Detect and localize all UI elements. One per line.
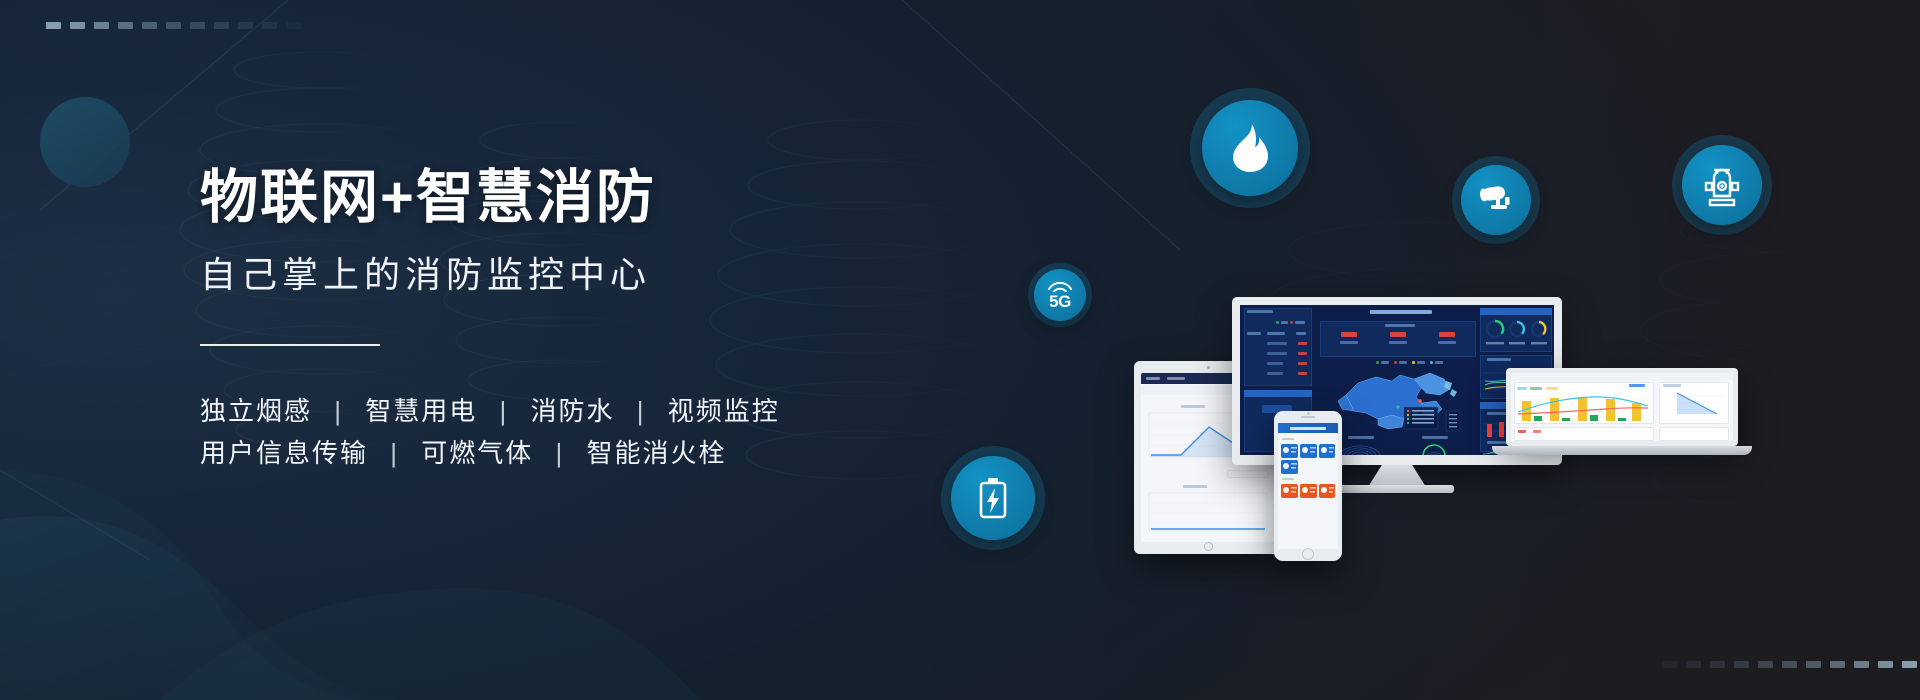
fiveg-badge[interactable]: 5G xyxy=(1028,263,1092,327)
page-subtitle: 自己掌上的消防监控中心 xyxy=(200,253,960,296)
battery-badge[interactable] xyxy=(941,446,1045,550)
cctv-icon xyxy=(1476,183,1516,217)
feature-item: 智慧用电 xyxy=(365,396,477,426)
feature-separator: | xyxy=(624,396,659,426)
feature-item: 智能消火栓 xyxy=(587,438,727,468)
monitor-stand xyxy=(1368,465,1426,487)
hydrant-icon xyxy=(1702,162,1742,208)
feature-separator: | xyxy=(377,438,412,468)
feature-separator: | xyxy=(543,438,578,468)
laptop-device xyxy=(1492,368,1752,460)
decor-circle xyxy=(40,97,130,187)
flame-badge[interactable] xyxy=(1190,88,1310,208)
hero-copy: 物联网+智慧消防 自己掌上的消防监控中心 独立烟感 | 智慧用电 | 消防水 |… xyxy=(200,166,960,474)
feature-item: 独立烟感 xyxy=(200,396,312,426)
signal-waves-icon xyxy=(1047,281,1073,292)
feature-item: 消防水 xyxy=(531,396,615,426)
dash-markers-top xyxy=(46,22,301,29)
feature-line-2: 用户信息传输 | 可燃气体 | 智能消火栓 xyxy=(200,432,960,474)
feature-line-1: 独立烟感 | 智慧用电 | 消防水 | 视频监控 xyxy=(200,390,960,432)
dash-markers-bottom xyxy=(1662,661,1917,668)
feature-item: 可燃气体 xyxy=(421,438,533,468)
phone-device xyxy=(1274,411,1342,561)
fiveg-label: 5G xyxy=(1049,293,1071,310)
feature-item: 视频监控 xyxy=(668,396,780,426)
feature-list: 独立烟感 | 智慧用电 | 消防水 | 视频监控 用户信息传输 | 可燃气体 |… xyxy=(200,390,960,474)
cctv-badge[interactable] xyxy=(1452,156,1540,244)
title-divider xyxy=(200,344,380,346)
china-map xyxy=(1318,367,1478,435)
flame-icon xyxy=(1227,123,1273,173)
feature-separator: | xyxy=(321,396,356,426)
feature-separator: | xyxy=(487,396,522,426)
laptop-base xyxy=(1492,446,1752,455)
laptop-bar-chart xyxy=(1516,392,1650,424)
feature-item: 用户信息传输 xyxy=(200,438,368,468)
corner-wave-lower xyxy=(0,516,400,700)
page-title: 物联网+智慧消防 xyxy=(200,166,960,231)
battery-icon xyxy=(976,475,1010,521)
hero-banner: 物联网+智慧消防 自己掌上的消防监控中心 独立烟感 | 智慧用电 | 消防水 |… xyxy=(0,0,1920,700)
phone-tile-icons xyxy=(1278,423,1338,549)
hydrant-badge[interactable] xyxy=(1672,135,1772,235)
